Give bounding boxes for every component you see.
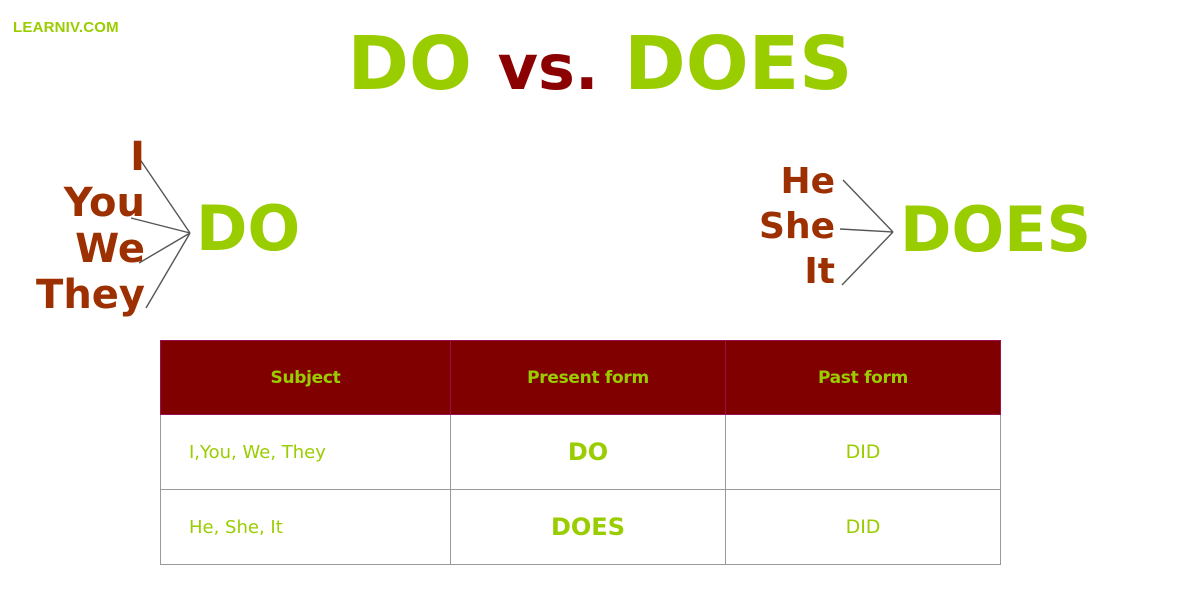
pronoun-you: You [0,180,145,226]
cell-subject-plural: I,You, We, They [161,415,451,490]
column-header-subject: Subject [161,341,451,415]
pronoun-we: We [0,226,145,272]
title-word-does: DOES [624,21,852,107]
pronoun-it: It [700,249,835,294]
pronoun-group-does: He She It [700,159,835,294]
verb-forms-table: Subject Present form Past form I,You, We… [160,340,1001,565]
verb-do: DO [196,198,300,260]
title-word-do: DO [348,21,472,107]
table-header-row: Subject Present form Past form [161,341,1001,415]
cell-present-does: DOES [451,490,726,565]
title-word-vs: vs. [498,31,599,104]
cell-past-did-1: DID [726,415,1001,490]
verb-does: DOES [900,199,1091,261]
table-row: I,You, We, They DO DID [161,415,1001,490]
page-title: DO vs. DOES [0,24,1200,108]
infographic-canvas: LEARNIV.COM DO vs. DOES I You We They DO… [0,0,1200,600]
cell-past-did-2: DID [726,490,1001,565]
pronoun-they: They [0,272,145,318]
cell-subject-singular: He, She, It [161,490,451,565]
cell-present-do: DO [451,415,726,490]
table-row: He, She, It DOES DID [161,490,1001,565]
pronoun-i: I [0,134,145,180]
column-header-past-form: Past form [726,341,1001,415]
pronoun-he: He [700,159,835,204]
pronoun-she: She [700,204,835,249]
pronoun-group-do: I You We They [0,134,145,318]
column-header-present-form: Present form [451,341,726,415]
